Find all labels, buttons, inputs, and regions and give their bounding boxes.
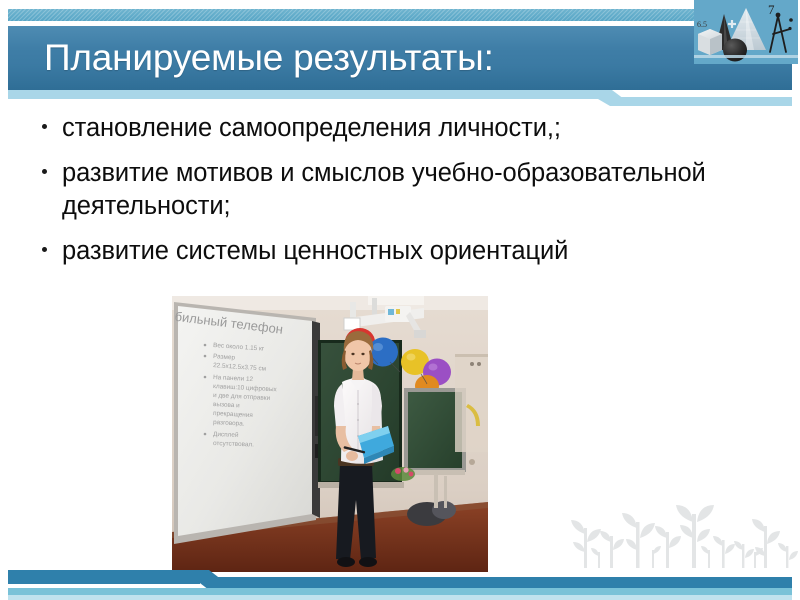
list-item: развитие мотивов и смыслов учебно-образо…: [42, 157, 742, 223]
bullet-text: становление самоопределения личности,;: [62, 112, 742, 145]
bullet-point-icon: [42, 112, 62, 129]
svg-text:отсутствовал.: отсутствовал.: [213, 440, 254, 448]
bullet-text: развитие мотивов и смыслов учебно-образо…: [62, 157, 742, 223]
header-accent-bar: [8, 9, 792, 21]
slide-root: Планируемые результаты:: [0, 0, 800, 600]
geometry-shapes-icon: 7 6.5: [694, 0, 798, 64]
header-underband: [8, 90, 792, 106]
bullet-point-icon: [42, 235, 62, 252]
bullet-list: становление самоопределения личности,; р…: [42, 112, 742, 280]
classroom-presentation-photo: бильный телефон Вес около 1.15 кг Размер…: [172, 296, 488, 572]
bullet-point-icon: [42, 157, 62, 174]
svg-text:вызова и: вызова и: [213, 401, 240, 409]
svg-text:Дисплей: Дисплей: [213, 430, 239, 439]
deco-number-six-five: 6.5: [697, 20, 707, 29]
bullet-text: развитие системы ценностных ориентаций: [62, 235, 742, 268]
list-item: становление самоопределения личности,;: [42, 112, 742, 145]
deco-number-seven: 7: [768, 2, 775, 17]
list-item: развитие системы ценностных ориентаций: [42, 235, 742, 268]
footer-bar: [0, 560, 800, 600]
page-title: Планируемые результаты:: [44, 28, 494, 88]
